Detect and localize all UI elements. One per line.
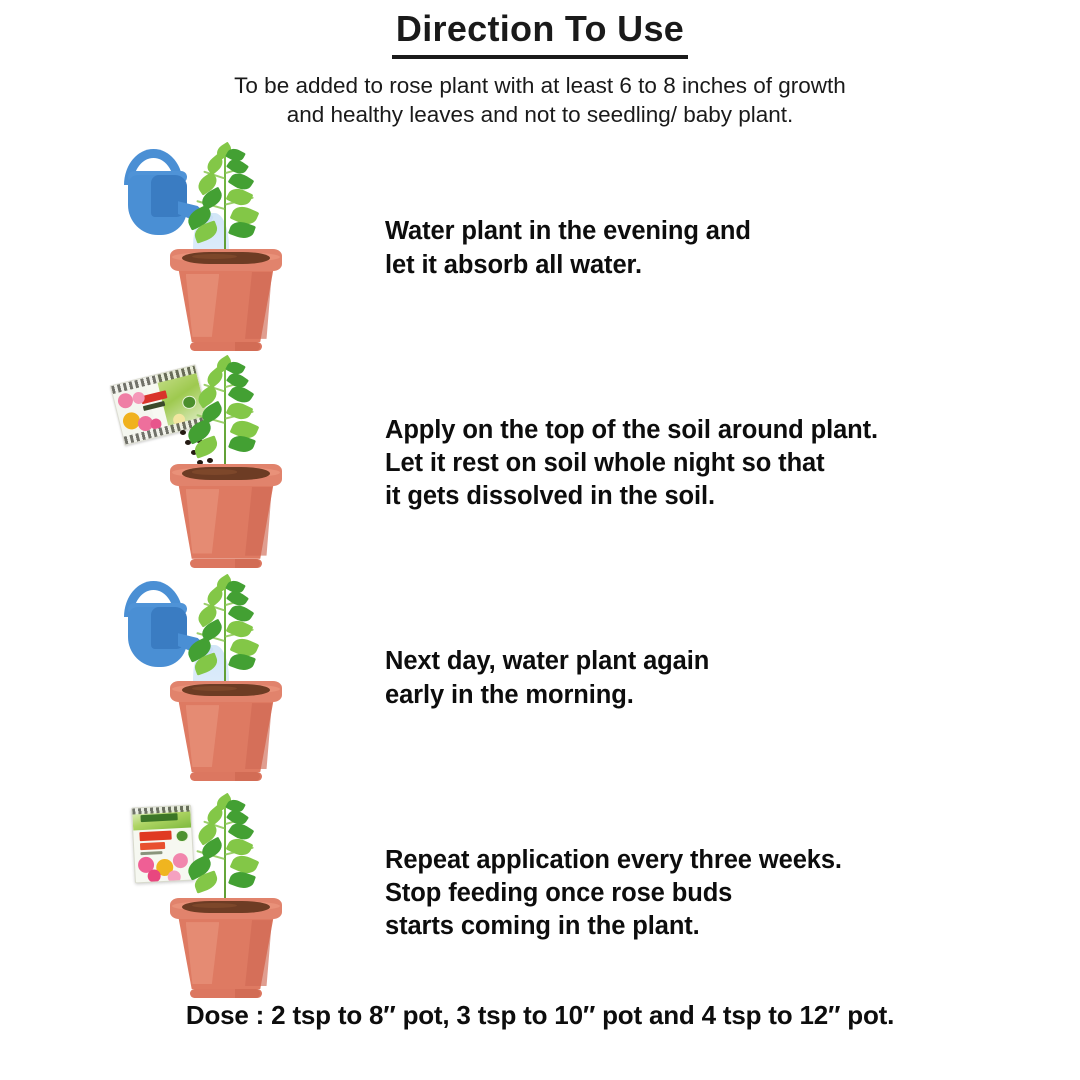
rose-plant-icon — [182, 798, 268, 906]
terracotta-pot — [170, 249, 282, 351]
bag-product-subtitle — [140, 851, 162, 856]
pot-base-shadow — [235, 559, 260, 568]
pot-base-shadow — [235, 989, 260, 998]
terracotta-pot — [170, 898, 282, 998]
header: Direction To Use To be added to rose pla… — [0, 0, 1080, 129]
page-title: Direction To Use — [392, 8, 688, 59]
pot-base-shadow — [235, 772, 260, 781]
steps-list: Water plant in the evening and let it ab… — [0, 141, 1080, 1001]
step-3-text: Next day, water plant again early in the… — [385, 645, 1080, 712]
step-row-4: Repeat application every three weeks. St… — [0, 786, 1080, 1001]
bag-flower — [168, 870, 182, 884]
step-1-text: Water plant in the evening and let it ab… — [385, 215, 1080, 282]
step-1-illustration — [0, 141, 385, 356]
step-row-1: Water plant in the evening and let it ab… — [0, 141, 1080, 356]
rose-plant-icon — [182, 360, 268, 472]
terracotta-pot — [170, 464, 282, 568]
packet-flower — [116, 391, 134, 409]
pot-soil-highlight — [192, 469, 237, 474]
step-2-illustration — [0, 356, 385, 571]
step-2-text: Apply on the top of the soil around plan… — [385, 414, 1080, 514]
terracotta-pot — [170, 681, 282, 781]
pot-base-shadow — [235, 342, 260, 351]
plant-leaf — [226, 617, 254, 641]
plant-leaf — [226, 185, 254, 209]
plant-leaf — [226, 398, 254, 422]
bag-product-title-line2 — [140, 842, 166, 851]
step-4-illustration — [0, 786, 385, 1001]
subtitle-line-1: To be added to rose plant with at least … — [0, 72, 1080, 101]
step-3-illustration — [0, 571, 385, 786]
step-row-3: Next day, water plant again early in the… — [0, 571, 1080, 786]
dose-text: Dose : 2 tsp to 8″ pot, 3 tsp to 10″ pot… — [186, 1000, 894, 1030]
rose-plant-icon — [182, 579, 268, 689]
rose-plant-icon — [182, 147, 268, 257]
bag-product-title-line1 — [139, 831, 172, 842]
step-row-2: Apply on the top of the soil around plan… — [0, 356, 1080, 571]
step-4-text: Repeat application every three weeks. St… — [385, 844, 1080, 944]
page-subtitle: To be added to rose plant with at least … — [0, 72, 1080, 129]
bag-flower — [147, 869, 161, 883]
subtitle-line-2: and healthy leaves and not to seedling/ … — [0, 101, 1080, 130]
dose-note: Dose : 2 tsp to 8″ pot, 3 tsp to 10″ pot… — [0, 1000, 1080, 1031]
